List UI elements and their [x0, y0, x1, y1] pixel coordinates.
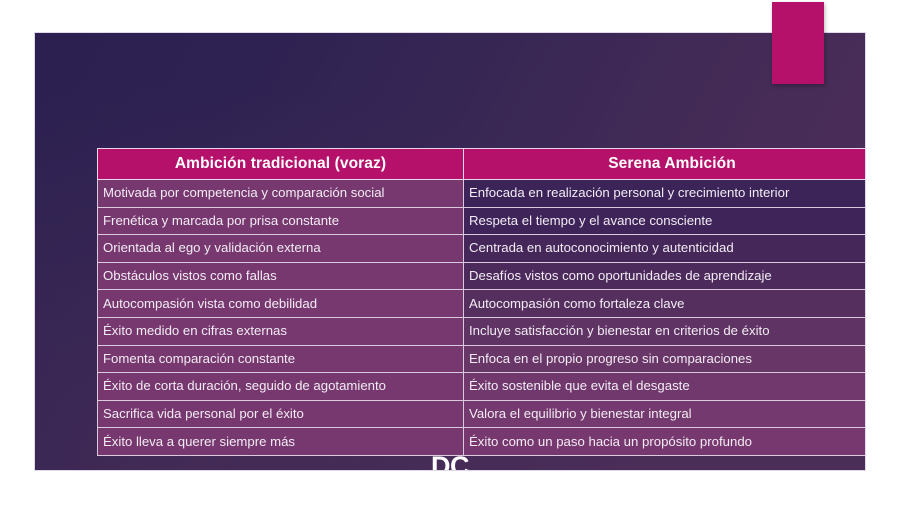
table-row: Frenética y marcada por prisa constante …: [98, 207, 866, 235]
cell-serena: Autocompasión como fortaleza clave: [464, 290, 866, 318]
cell-serena: Respeta el tiempo y el avance consciente: [464, 207, 866, 235]
cell-serena: Enfocada en realización personal y creci…: [464, 180, 866, 208]
comparison-table-container: Ambición tradicional (voraz) Serena Ambi…: [97, 148, 865, 456]
screenshot-canvas: Ambición tradicional (voraz) Serena Ambi…: [0, 0, 900, 506]
cell-tradicional: Éxito de corta duración, seguido de agot…: [98, 373, 464, 401]
table-row: Éxito medido en cifras externas Incluye …: [98, 317, 866, 345]
cell-tradicional: Obstáculos vistos como fallas: [98, 262, 464, 290]
table-row: Obstáculos vistos como fallas Desafíos v…: [98, 262, 866, 290]
table-row: Sacrifica vida personal por el éxito Val…: [98, 400, 866, 428]
cell-tradicional: Frenética y marcada por prisa constante: [98, 207, 464, 235]
cell-tradicional: Motivada por competencia y comparación s…: [98, 180, 464, 208]
cell-serena: Incluye satisfacción y bienestar en crit…: [464, 317, 866, 345]
cell-serena: Enfoca en el propio progreso sin compara…: [464, 345, 866, 373]
table-row: Autocompasión vista como debilidad Autoc…: [98, 290, 866, 318]
cell-serena: Valora el equilibrio y bienestar integra…: [464, 400, 866, 428]
cell-serena: Éxito sostenible que evita el desgaste: [464, 373, 866, 401]
cell-serena: Desafíos vistos como oportunidades de ap…: [464, 262, 866, 290]
table-row: Orientada al ego y validación externa Ce…: [98, 235, 866, 263]
cell-serena: Centrada en autoconocimiento y autentici…: [464, 235, 866, 263]
accent-rectangle-decoration: [772, 2, 824, 84]
table-row: Motivada por competencia y comparación s…: [98, 180, 866, 208]
cell-tradicional: Orientada al ego y validación externa: [98, 235, 464, 263]
cell-tradicional: Éxito medido en cifras externas: [98, 317, 464, 345]
logo-monogram: DC: [35, 452, 865, 470]
comparison-table: Ambición tradicional (voraz) Serena Ambi…: [97, 148, 865, 456]
table-row: Éxito de corta duración, seguido de agot…: [98, 373, 866, 401]
table-row: Fomenta comparación constante Enfoca en …: [98, 345, 866, 373]
table-header-row: Ambición tradicional (voraz) Serena Ambi…: [98, 149, 866, 180]
cell-tradicional: Sacrifica vida personal por el éxito: [98, 400, 464, 428]
column-header-serena-ambicion: Serena Ambición: [464, 149, 866, 180]
brand-logo: DC DanielColombo.com: [35, 452, 865, 470]
column-header-ambicion-tradicional: Ambición tradicional (voraz): [98, 149, 464, 180]
cell-tradicional: Autocompasión vista como debilidad: [98, 290, 464, 318]
table-body: Motivada por competencia y comparación s…: [98, 180, 866, 456]
table-header: Ambición tradicional (voraz) Serena Ambi…: [98, 149, 866, 180]
cell-tradicional: Fomenta comparación constante: [98, 345, 464, 373]
slide-body: Ambición tradicional (voraz) Serena Ambi…: [35, 33, 865, 470]
